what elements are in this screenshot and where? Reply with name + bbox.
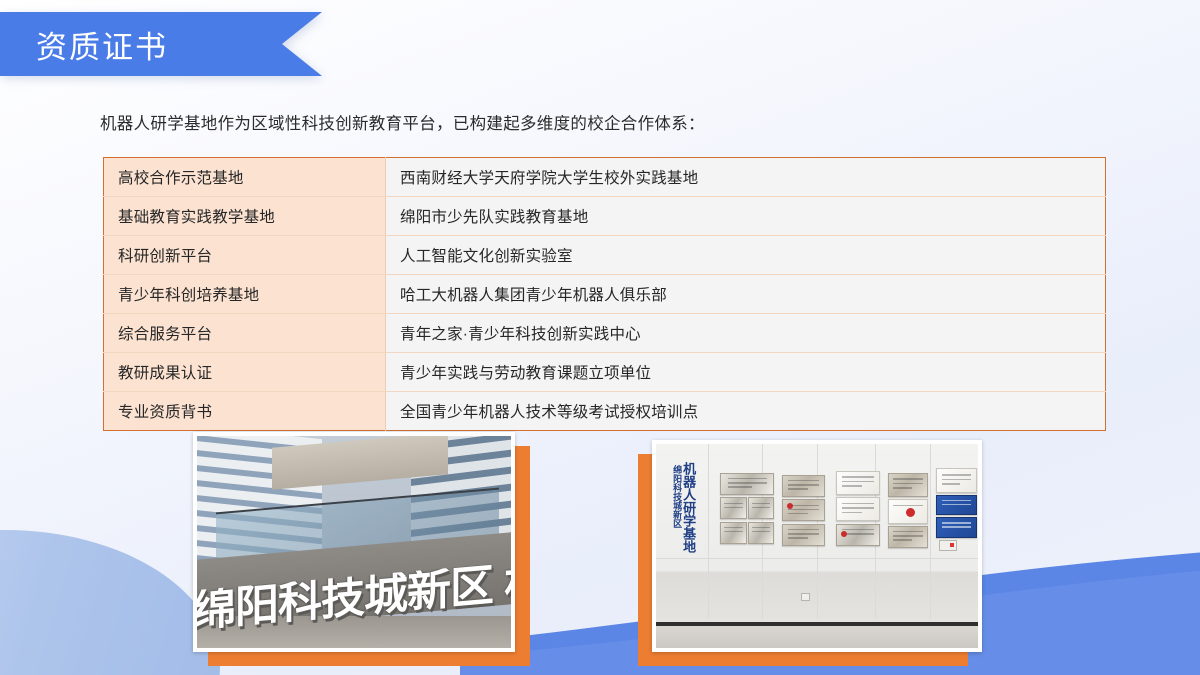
wall-control-panel [939,540,957,551]
photo-left-mat: 绵阳科技城新区 机器人研学 [193,432,515,652]
plaque [936,495,977,515]
floor-surface [656,626,978,648]
cell-category: 基础教育实践教学基地 [104,197,386,236]
plaque [836,524,880,546]
cell-value: 西南财经大学天府学院大学生校外实践基地 [386,158,1106,197]
plaque [748,497,774,519]
cell-value: 青少年实践与劳动教育课题立项单位 [386,353,1106,392]
cell-value: 青年之家·青少年科技创新实践中心 [386,314,1106,353]
table-row: 基础教育实践教学基地 绵阳市少先队实践教育基地 [104,197,1106,236]
table-row: 高校合作示范基地 西南财经大学天府学院大学生校外实践基地 [104,158,1106,197]
table-body: 高校合作示范基地 西南财经大学天府学院大学生校外实践基地 基础教育实践教学基地 … [104,158,1106,431]
plaque [888,499,929,523]
plaque [748,522,774,544]
cell-category: 综合服务平台 [104,314,386,353]
cell-category: 科研创新平台 [104,236,386,275]
plaque [888,473,929,497]
wall-seam [656,558,978,559]
table-row: 教研成果认证 青少年实践与劳动教育课题立项单位 [104,353,1106,392]
plaque [720,473,774,495]
plaque [782,499,826,521]
cell-value: 绵阳市少先队实践教育基地 [386,197,1106,236]
background-blob-left [0,530,220,675]
wall-seam [930,444,931,619]
title-ribbon: 资质证书 [0,12,322,76]
photo-certificate-wall: 机器人研学基地 绵阳科技城新区 [652,440,982,652]
table-row: 综合服务平台 青年之家·青少年科技创新实践中心 [104,314,1106,353]
table-row: 专业资质背书 全国青少年机器人技术等级考试授权培训点 [104,392,1106,431]
cell-value: 全国青少年机器人技术等级考试授权培训点 [386,392,1106,431]
plaque [720,497,746,519]
intro-paragraph: 机器人研学基地作为区域性科技创新教育平台，已构建起多维度的校企合作体系： [100,110,1110,134]
photo-right-image: 机器人研学基地 绵阳科技城新区 [656,444,978,648]
plaque [782,475,826,497]
plaque [888,526,929,548]
credentials-table: 高校合作示范基地 西南财经大学天府学院大学生校外实践基地 基础教育实践教学基地 … [103,157,1106,431]
wall-vertical-signage: 机器人研学基地 绵阳科技城新区 [672,462,695,553]
cell-category: 教研成果认证 [104,353,386,392]
plaque [836,497,880,521]
photo-building-exterior: 绵阳科技城新区 机器人研学 [193,432,515,652]
cell-value: 人工智能文化创新实验室 [386,236,1106,275]
wall-outlet [801,593,810,601]
slide-canvas: 资质证书 机器人研学基地作为区域性科技创新教育平台，已构建起多维度的校企合作体系… [0,0,1200,675]
wall-text-main: 机器人研学基地 [682,462,695,553]
page-title: 资质证书 [36,12,168,76]
plaque [936,468,977,492]
photo-right-mat: 机器人研学基地 绵阳科技城新区 [652,440,982,652]
wall-text-sub: 绵阳科技城新区 [672,462,681,553]
table-row: 青少年科创培养基地 哈工大机器人集团青少年机器人俱乐部 [104,275,1106,314]
plaque [782,524,826,546]
plaque [720,522,746,544]
table-row: 科研创新平台 人工智能文化创新实验室 [104,236,1106,275]
cell-category: 青少年科创培养基地 [104,275,386,314]
photo-left-image: 绵阳科技城新区 机器人研学 [197,436,511,648]
plaque [936,517,977,537]
wall-seam [708,444,709,619]
plaque [836,471,880,495]
cell-value: 哈工大机器人集团青少年机器人俱乐部 [386,275,1106,314]
cell-category: 高校合作示范基地 [104,158,386,197]
cell-category: 专业资质背书 [104,392,386,431]
